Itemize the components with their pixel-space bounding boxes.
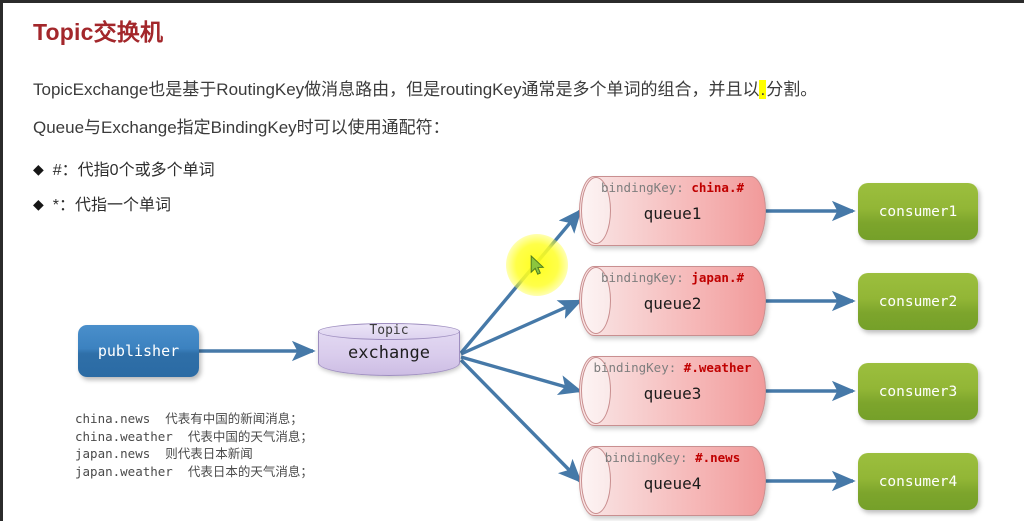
bullet-hash: ◆#：代指0个或多个单词 [33, 156, 215, 180]
binding-key-value: #.news [695, 450, 740, 465]
bullet-star: ◆*：代指一个单词 [33, 191, 171, 215]
queue-node-3[interactable]: bindingKey: #.weather queue3 [579, 356, 766, 426]
binding-key-prefix: bindingKey: [601, 270, 684, 285]
paragraph-binding-key: Queue与Exchange指定BindingKey时可以使用通配符： [33, 113, 450, 138]
queue-name-2: queue2 [579, 294, 766, 313]
queue-name-1: queue1 [579, 204, 766, 223]
queue-name-4: queue4 [579, 474, 766, 493]
consumer-node-3[interactable]: consumer3 [858, 363, 978, 420]
topic-exchange-node[interactable]: Topic exchange [318, 323, 460, 376]
queue-binding-key-4: bindingKey: #.news [579, 450, 766, 465]
binding-key-value: china.# [691, 180, 744, 195]
paragraph-1-after: 分割。 [766, 80, 817, 99]
slide-canvas: Topic交换机 TopicExchange也是基于RoutingKey做消息路… [0, 0, 1024, 521]
queue-binding-key-1: bindingKey: china.# [579, 180, 766, 195]
queue-node-2[interactable]: bindingKey: japan.# queue2 [579, 266, 766, 336]
publisher-node[interactable]: publisher [78, 325, 199, 377]
consumer-node-2[interactable]: consumer2 [858, 273, 978, 330]
note-line: japan.news 则代表日本新闻 [75, 446, 253, 461]
diamond-bullet-icon: ◆ [33, 161, 44, 178]
queue-name-3: queue3 [579, 384, 766, 403]
consumer-node-4[interactable]: consumer4 [858, 453, 978, 510]
binding-key-value: #.weather [684, 360, 752, 375]
binding-key-prefix: bindingKey: [605, 450, 688, 465]
bullet-hash-label: #：代指0个或多个单词 [53, 162, 215, 179]
note-line: china.weather 代表中国的天气消息； [75, 429, 313, 444]
binding-key-prefix: bindingKey: [601, 180, 684, 195]
paragraph-routing-key: TopicExchange也是基于RoutingKey做消息路由，但是routi… [33, 75, 817, 100]
note-line: japan.weather 代表日本的天气消息； [75, 464, 313, 479]
binding-key-value: japan.# [691, 270, 744, 285]
exchange-label: exchange [318, 343, 460, 363]
note-line: china.news 代表有中国的新闻消息； [75, 411, 303, 426]
bullet-star-label: *：代指一个单词 [53, 197, 171, 214]
queue-node-4[interactable]: bindingKey: #.news queue4 [579, 446, 766, 516]
paragraph-1-before: TopicExchange也是基于RoutingKey做消息路由，但是routi… [33, 80, 759, 99]
mouse-cursor-icon [530, 255, 546, 277]
binding-key-prefix: bindingKey: [593, 360, 676, 375]
queue-node-1[interactable]: bindingKey: china.# queue1 [579, 176, 766, 246]
consumer-node-1[interactable]: consumer1 [858, 183, 978, 240]
routing-key-examples: china.news 代表有中国的新闻消息； china.weather 代表中… [75, 410, 313, 480]
exchange-type-label: Topic [318, 323, 460, 338]
page-title: Topic交换机 [33, 13, 163, 47]
diamond-bullet-icon: ◆ [33, 196, 44, 213]
queue-binding-key-2: bindingKey: japan.# [579, 270, 766, 285]
queue-binding-key-3: bindingKey: #.weather [579, 360, 766, 375]
